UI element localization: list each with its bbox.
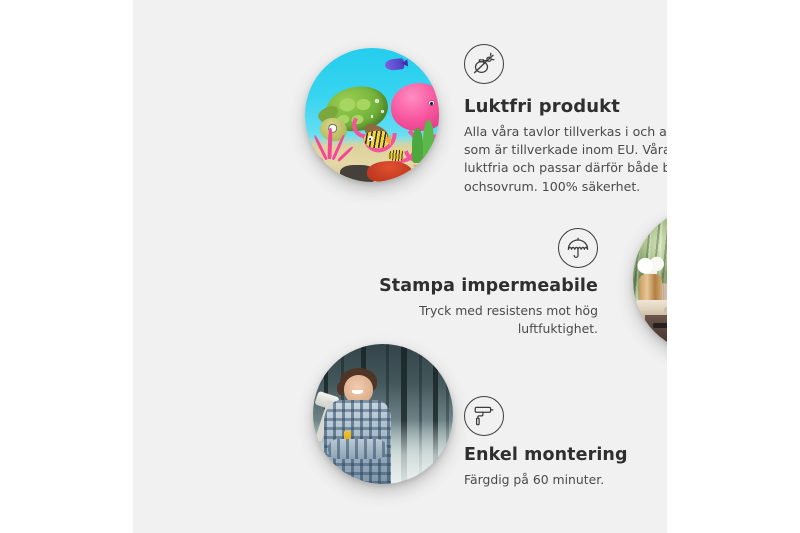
feature-odorless: Luktfri produkt Alla våra tavlor tillver… [464,44,667,196]
feature-title: Enkel montering [464,445,667,467]
feature-waterproof: Stampa impermeabile Tryck med resistens … [343,228,598,338]
feature-assembly: Enkel montering Färgdig på 60 minuter. [464,396,667,489]
underwater-kids-mural-photo [305,48,439,182]
paint-roller-icon [464,396,504,436]
content-panel: Luktfri produkt Alla våra tavlor tillver… [133,0,667,533]
seaweed [423,120,434,163]
ocean-scene [305,48,439,182]
feature-title: Stampa impermeabile [343,276,598,298]
small-striped-fish [388,150,403,161]
umbrella-icon [558,228,598,268]
painter-scene [313,344,453,484]
octopus-eye [428,100,434,106]
woman-with-paint-roller-photo [313,344,453,484]
feature-body: Alla våra tavlor tillverkas i och av pro… [464,123,667,197]
water-bubble [375,99,379,103]
blue-fish [385,58,405,71]
woman-crossed-arms [328,439,387,459]
feature-body: Tryck med resistens mot hög luftfuktighe… [343,302,598,338]
seaweed [412,128,423,163]
bathroom-scene [633,207,667,353]
octopus-eye [438,99,439,105]
wood-vanity-cabinet [645,315,667,353]
feature-title: Luktfri produkt [464,96,667,119]
water-bubble [371,115,374,118]
yellow-striped-fish [364,131,387,148]
feature-body: Färgdig på 60 minuter. [464,471,667,489]
bathroom-tropical-wallpaper-photo [633,207,667,353]
red-crab [367,161,413,182]
no-spray-bottle-icon [464,44,504,84]
infographic-canvas: Luktfri produkt Alla våra tavlor tillver… [0,0,800,533]
